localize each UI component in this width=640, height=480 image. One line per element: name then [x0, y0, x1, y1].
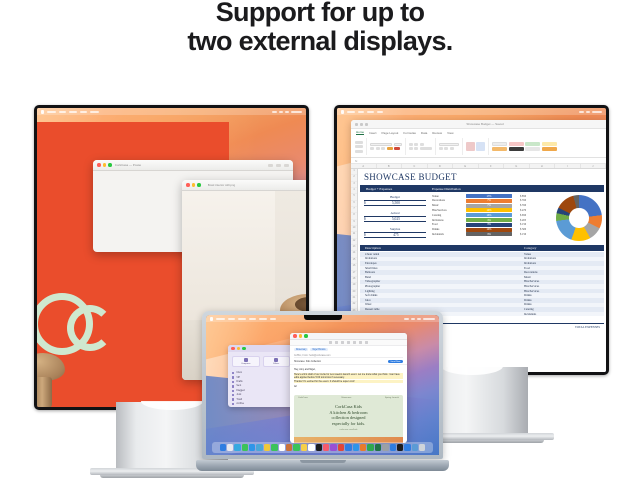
fill-color-icon[interactable]	[387, 147, 393, 150]
trash-icon[interactable]	[419, 444, 425, 450]
music-icon[interactable]	[323, 444, 329, 450]
mailbox-list[interactable]: InboxVIPDraftsSentFlaggedJunkTrashArchiv…	[228, 369, 294, 407]
apple-logo-icon[interactable]	[210, 317, 213, 321]
calendar-icon[interactable]	[279, 444, 285, 450]
cell-category: Hire/Services	[524, 285, 604, 288]
traffic-lights[interactable]	[231, 347, 246, 351]
appstore-icon[interactable]	[345, 444, 351, 450]
macbook-air: Compose Filters InboxVIPDraftsSentFlagge…	[196, 311, 449, 471]
indent-decrease-icon[interactable]	[409, 147, 413, 150]
apple-logo-icon[interactable]	[341, 110, 344, 114]
mailbox-icon	[232, 372, 234, 374]
expense-distribution-list: Venue17%$ 850Decorations7%$ 350Music7%$ …	[432, 194, 552, 237]
xcode-icon[interactable]	[404, 444, 410, 450]
mailbox-icon	[232, 385, 234, 387]
align-center-icon[interactable]	[414, 143, 418, 146]
menu-item[interactable]	[377, 111, 383, 113]
distribution-percent: 7%	[466, 204, 512, 208]
settings-icon[interactable]	[382, 444, 388, 450]
budget-summary-item: Surplus$475	[364, 227, 426, 238]
toolbar-button[interactable]	[268, 164, 273, 167]
card-title: CorkCasa Kids A kitchen & bedroom collec…	[294, 404, 403, 426]
expense-table-header: Description Category	[360, 245, 604, 251]
mailbox-label: Sent	[236, 385, 241, 387]
align-left-icon[interactable]	[409, 143, 413, 146]
mailbox-icon	[232, 381, 234, 383]
font-size-select[interactable]	[394, 143, 402, 146]
mailbox-label: Archive	[236, 403, 244, 405]
news-icon[interactable]	[338, 444, 344, 450]
budget-title: SHOWCASE BUDGET	[364, 172, 457, 182]
zoom-icon[interactable]	[304, 334, 308, 338]
mail-sidebar-window[interactable]: Compose Filters InboxVIPDraftsSentFlagge…	[228, 345, 294, 407]
photo-icon[interactable]	[347, 341, 350, 343]
merge-cells-button[interactable]	[420, 147, 432, 150]
messages-icon[interactable]	[242, 444, 248, 450]
cell-category: Venue	[524, 253, 604, 256]
cell-description: Soft drinks	[365, 294, 524, 297]
menu-item[interactable]	[249, 318, 256, 320]
menu-item[interactable]	[228, 318, 235, 320]
column-header[interactable]: H	[530, 164, 556, 168]
window-title-bar[interactable]: Bowl interior still.png	[182, 180, 306, 191]
format-as-table-icon[interactable]	[476, 142, 485, 151]
podcasts-icon[interactable]	[330, 444, 336, 450]
distribution-row: Incidentals3%$ 150	[432, 232, 552, 236]
compose-label: Compose	[241, 363, 250, 365]
distribution-bar: 17%	[466, 194, 512, 198]
section-band: Budget + Expenses Expense Distribution	[360, 185, 604, 192]
distribution-row: Drinks10%$ 500	[432, 227, 552, 231]
reminders-icon[interactable]	[293, 444, 299, 450]
distribution-row: Food3%$ 150	[432, 223, 552, 227]
menu-item[interactable]	[367, 111, 374, 113]
wifi-icon[interactable]	[272, 111, 277, 113]
notes-icon[interactable]	[301, 444, 307, 450]
budget-summary-item: Budget$5,500	[364, 195, 426, 206]
laptop-lid: Compose Filters InboxVIPDraftsSentFlagge…	[202, 311, 443, 459]
dock[interactable]	[212, 442, 433, 453]
bold-icon[interactable]	[370, 147, 374, 150]
distribution-bar: 7%	[466, 204, 512, 208]
cell-category: Music	[524, 276, 604, 279]
freeform-icon[interactable]	[308, 444, 314, 450]
cell-description: Lighting	[365, 290, 524, 293]
close-icon[interactable]	[231, 347, 235, 351]
mailbox-label: Flagged	[236, 390, 244, 392]
distribution-bar: 4%	[466, 218, 512, 222]
formula-fx-label: fx	[355, 159, 357, 163]
menu-item[interactable]	[69, 111, 77, 113]
launchpad-icon[interactable]	[227, 444, 233, 450]
tab-data[interactable]: Data	[421, 131, 427, 135]
distribution-row: Hire/Services10%$ 470	[432, 208, 552, 212]
subject-field[interactable]: Showcase: Kids Collection	[294, 361, 321, 363]
laptop-trackpad-notch	[300, 460, 346, 463]
column-description: Description	[365, 246, 524, 250]
italic-icon[interactable]	[376, 147, 380, 150]
underline-icon[interactable]	[381, 147, 385, 150]
finder-icon[interactable]	[220, 444, 226, 450]
mailbox-icon	[232, 390, 234, 392]
compose-button[interactable]: Compose	[232, 356, 260, 367]
mailbox-label: VIP	[236, 377, 240, 379]
summary-amount: 5,500	[392, 201, 400, 205]
menu-item[interactable]	[59, 111, 66, 113]
ribbon-tabs[interactable]: Home Insert Page Layout Formulas Data Re…	[351, 129, 606, 136]
mailbox-label: Trash	[236, 399, 242, 401]
cell-style-warning[interactable]	[542, 147, 557, 151]
ribbon-group-alignment[interactable]	[409, 138, 436, 155]
cell-description: Envelopes	[365, 262, 524, 265]
column-header[interactable]: J	[581, 164, 607, 168]
format-painter-icon[interactable]	[355, 150, 363, 153]
cell-category: Drinks	[524, 303, 604, 306]
battery-icon	[586, 111, 590, 113]
cell-category: Food	[524, 267, 604, 270]
distribution-category: Venue	[432, 195, 466, 198]
currency-symbol: $	[364, 233, 366, 237]
page-title: Support for up to two external displays.	[0, 0, 640, 56]
cell-style-note[interactable]	[525, 147, 540, 151]
distribution-percent: 3%	[466, 223, 512, 227]
menu-item[interactable]	[270, 318, 276, 320]
cell-category: Hire/Services	[524, 280, 604, 283]
undo-icon[interactable]	[360, 123, 363, 126]
distribution-category: Drinks	[432, 228, 466, 231]
control-center-icon[interactable]	[279, 111, 283, 113]
body-signature: Ari	[294, 385, 403, 388]
distribution-amount: $ 150	[520, 223, 526, 226]
close-icon[interactable]	[186, 183, 190, 187]
wifi-icon[interactable]	[404, 318, 409, 320]
distribution-percent: 13%	[466, 213, 512, 217]
cell-category: Drinks	[524, 299, 604, 302]
emoji-icon[interactable]	[341, 341, 344, 343]
tab-home[interactable]: Home	[356, 130, 364, 135]
apple-logo-icon[interactable]	[41, 110, 44, 114]
percent-format-icon[interactable]	[444, 147, 448, 150]
send-now-button[interactable]: Send Now	[388, 360, 403, 363]
cell-description: Invitations	[365, 257, 524, 260]
traffic-lights[interactable]	[186, 183, 201, 187]
window-title-bar[interactable]	[228, 345, 294, 352]
paste-icon[interactable]	[355, 141, 363, 144]
budget-summary-item: Actual$5,025	[364, 211, 426, 222]
menu-bar-left[interactable]	[37, 108, 306, 115]
summary-amount: 5,025	[392, 217, 400, 221]
filter-icon	[274, 358, 278, 362]
toolbar-button[interactable]	[276, 164, 281, 167]
cell-category: Incidentals	[524, 313, 604, 316]
distribution-bar: 7%	[466, 199, 512, 203]
card-link: corkcasa.com/kids	[294, 429, 403, 431]
mail-compose-window[interactable]: Rosemary Nigel Brooks Cc/Bcc, From: hell…	[290, 333, 407, 443]
mailbox-label: Junk	[236, 394, 241, 396]
cell-style-good[interactable]	[525, 142, 540, 146]
zoom-icon[interactable]	[197, 183, 201, 187]
document-name: Showcase Budget — Saved	[466, 122, 503, 126]
distribution-bar: 3%	[466, 223, 512, 227]
distribution-percent: 17%	[466, 194, 512, 198]
compose-icon	[244, 358, 248, 362]
distribution-row: Decorations7%$ 350	[432, 199, 552, 203]
minimize-icon[interactable]	[237, 347, 241, 351]
photos-icon[interactable]	[264, 444, 270, 450]
excel-icon[interactable]	[375, 444, 381, 450]
display-notch	[304, 315, 342, 320]
distribution-amount: $ 850	[520, 195, 526, 198]
headline-line-2: two external displays.	[0, 27, 640, 56]
distribution-percent: 10%	[466, 228, 512, 232]
cc-from-field[interactable]: Cc/Bcc, From: hello@corkcasa.com	[294, 354, 403, 358]
summary-value: $5,025	[364, 217, 426, 223]
tab-insert[interactable]: Insert	[369, 131, 377, 135]
cell-category: Decorations	[524, 271, 604, 274]
distribution-bar: 10%	[466, 208, 512, 212]
filters-button[interactable]: Filters	[263, 356, 291, 367]
summary-amount: 475	[393, 233, 398, 237]
clock	[592, 111, 602, 113]
cell-category: Hire/Services	[524, 290, 604, 293]
distribution-category: Food	[432, 223, 466, 226]
column-header[interactable]: B	[377, 164, 403, 168]
window-title-bar[interactable]: CorkCasa — Poster	[93, 160, 293, 171]
ribbon-group-clipboard[interactable]	[355, 138, 367, 155]
currency-symbol: $	[364, 201, 366, 205]
attach-icon[interactable]	[329, 341, 332, 343]
distribution-bar: 10%	[466, 228, 512, 232]
filters-label: Filters	[273, 363, 279, 365]
ribbon-group-conditional[interactable]	[466, 138, 490, 155]
redo-icon[interactable]	[365, 123, 368, 126]
cell-category: Invitations	[524, 257, 604, 260]
expense-donut-chart	[556, 195, 602, 241]
preview-icon[interactable]	[390, 444, 396, 450]
quick-access-toolbar[interactable]	[355, 123, 368, 126]
mailbox-label: Drafts	[236, 381, 242, 383]
menu-bar-right[interactable]	[337, 108, 606, 115]
cell-description: Videographer	[365, 280, 524, 283]
markup-icon[interactable]	[353, 341, 356, 343]
battery-icon	[285, 111, 289, 113]
section-budget-expenses: Budget + Expenses	[366, 187, 430, 191]
distribution-percent: 3%	[466, 232, 512, 236]
distribution-amount: $ 350	[520, 204, 526, 207]
ribbon-group-styles[interactable]	[492, 138, 560, 155]
distribution-row: Catering13%$ 650	[432, 213, 552, 217]
distribution-bar: 13%	[466, 213, 512, 217]
mailbox-icon	[232, 398, 234, 400]
format-icon[interactable]	[335, 341, 338, 343]
budget-summary: Budget$5,500Actual$5,025Surplus$475	[364, 195, 426, 243]
menu-item[interactable]	[216, 318, 225, 320]
cell-description: Photographer	[365, 285, 524, 288]
summary-value: $475	[364, 233, 426, 239]
laptop-screen: Compose Filters InboxVIPDraftsSentFlagge…	[206, 315, 439, 455]
cell-description: Band	[365, 276, 524, 279]
distribution-amount: $ 500	[520, 228, 526, 231]
poster-letter-glyph	[67, 305, 113, 351]
menu-item[interactable]	[47, 111, 56, 113]
column-header[interactable]: G	[504, 164, 530, 168]
menu-item[interactable]	[238, 318, 246, 320]
menu-item[interactable]	[80, 111, 87, 113]
body-paragraph-2: Thanks! I'm excited for the event. It sh…	[294, 380, 403, 383]
cell-style-normal[interactable]	[492, 142, 507, 146]
conditional-formatting-icon[interactable]	[466, 142, 475, 151]
distribution-category: Incidentals	[432, 233, 466, 236]
ribbon[interactable]	[351, 136, 606, 158]
currency-format-icon[interactable]	[439, 147, 443, 150]
font-color-icon[interactable]	[394, 147, 400, 150]
menu-item[interactable]	[259, 318, 267, 320]
mailbox-item[interactable]: Archive	[232, 402, 290, 406]
minimize-icon[interactable]	[103, 163, 107, 167]
menu-item[interactable]	[358, 111, 364, 113]
cell-style-neutral[interactable]	[542, 142, 557, 146]
terminal-icon[interactable]	[397, 444, 403, 450]
cell-description: Small bites	[365, 267, 524, 270]
comma-format-icon[interactable]	[450, 147, 454, 150]
cell-description: Water	[365, 303, 524, 306]
window-title: Bowl interior still.png	[208, 183, 236, 187]
zoom-icon[interactable]	[242, 347, 246, 351]
column-header[interactable]: C	[402, 164, 428, 168]
distribution-bar: 3%	[466, 232, 512, 236]
distribution-amount: $ 205	[520, 219, 526, 222]
tab-page-layout[interactable]: Page Layout	[382, 131, 399, 135]
cell-description: Juice	[365, 299, 524, 302]
tab-formulas[interactable]: Formulas	[403, 131, 416, 135]
card-title-line: especially for kids.	[294, 421, 403, 427]
window-title: CorkCasa — Poster	[115, 163, 142, 167]
cell-style-calculation[interactable]	[492, 147, 507, 151]
column-header[interactable]: D	[428, 164, 454, 168]
clock	[423, 318, 435, 320]
mailbox-label: Inbox	[236, 372, 242, 374]
save-icon[interactable]	[355, 123, 358, 126]
column-category: Category	[524, 246, 604, 250]
font-name-select[interactable]	[370, 143, 392, 146]
minimize-icon[interactable]	[192, 183, 196, 187]
distribution-amount: $ 150	[520, 233, 526, 236]
keynote-icon[interactable]	[353, 444, 359, 450]
toolbar-button[interactable]	[284, 164, 289, 167]
body-greeting: Hey, Amy and Nigel,	[294, 368, 403, 371]
copy-icon[interactable]	[355, 145, 363, 148]
card-header-left: CorkCasa	[298, 397, 308, 399]
menu-item[interactable]	[90, 111, 99, 113]
numbers-icon[interactable]	[367, 444, 373, 450]
recipient-chips[interactable]: Rosemary Nigel Brooks	[290, 346, 407, 353]
distribution-percent: 10%	[466, 208, 512, 212]
downloads-icon[interactable]	[412, 444, 418, 450]
ribbon-group-number[interactable]	[439, 138, 463, 155]
mailbox-icon	[232, 376, 234, 378]
cell-category: Invitations	[524, 262, 604, 265]
cell-category: Catering	[524, 308, 604, 311]
recipient-chip[interactable]: Rosemary	[294, 348, 308, 351]
currency-symbol: $	[364, 217, 366, 221]
column-header[interactable]: E	[453, 164, 479, 168]
number-format-select[interactable]	[439, 143, 459, 146]
distribution-percent: 4%	[466, 218, 512, 222]
wifi-icon[interactable]	[579, 111, 584, 113]
tab-review[interactable]: Review	[432, 131, 442, 135]
cell-style-input[interactable]	[509, 147, 524, 151]
recipient-chip[interactable]: Nigel Brooks	[310, 348, 327, 351]
distribution-amount: $ 350	[520, 199, 526, 202]
expense-table-rows: 4 hour rentalVenueInvitationsInvitations…	[360, 252, 604, 316]
zoom-icon[interactable]	[108, 163, 112, 167]
more-icon[interactable]	[365, 341, 368, 343]
contacts-icon[interactable]	[286, 444, 292, 450]
promo-canvas: Support for up to two external displays.	[0, 0, 640, 480]
mailbox-icon	[232, 394, 234, 396]
distribution-category: Invitations	[432, 219, 466, 222]
tv-icon[interactable]	[316, 444, 322, 450]
message-body[interactable]: Hey, Amy and Nigel, Here's a first draft…	[290, 365, 407, 388]
indent-increase-icon[interactable]	[414, 147, 418, 150]
column-header[interactable]: I	[555, 164, 581, 168]
control-center-icon[interactable]	[411, 318, 415, 320]
distribution-category: Hire/Services	[432, 209, 466, 212]
card-header-right: Spring Launch	[385, 397, 399, 399]
menu-item[interactable]	[347, 111, 355, 113]
pages-icon[interactable]	[360, 444, 366, 450]
excel-title-bar[interactable]: Showcase Budget — Saved	[351, 120, 606, 129]
minimize-icon[interactable]	[299, 334, 303, 338]
maps-icon[interactable]	[256, 444, 262, 450]
distribution-amount: $ 650	[520, 214, 526, 217]
distribution-row: Venue17%$ 850	[432, 194, 552, 198]
clock	[291, 111, 302, 113]
tab-view[interactable]: View	[447, 131, 453, 135]
ribbon-group-font[interactable]	[370, 138, 406, 155]
distribution-category: Music	[432, 204, 466, 207]
summary-value: $5,500	[364, 201, 426, 207]
cell-category: Drinks	[524, 294, 604, 297]
mail-icon[interactable]	[249, 444, 255, 450]
distribution-percent: 7%	[466, 199, 512, 203]
distribution-row: Music7%$ 350	[432, 204, 552, 208]
safari-icon[interactable]	[234, 444, 240, 450]
facetime-icon[interactable]	[271, 444, 277, 450]
email-attachment-card: CorkCasa Showcase Spring Launch CorkCasa…	[294, 395, 403, 443]
align-right-icon[interactable]	[420, 143, 424, 146]
distribution-category: Decorations	[432, 199, 466, 202]
close-icon[interactable]	[293, 334, 297, 338]
cell-description: Balloons	[365, 271, 524, 274]
headline-line-1: Support for up to	[216, 0, 425, 27]
card-header-center: Showcase	[341, 397, 351, 399]
column-header[interactable]: F	[479, 164, 505, 168]
laptop-base	[196, 460, 449, 471]
cell-style-bad[interactable]	[509, 142, 524, 146]
column-header[interactable]: A	[351, 164, 377, 168]
close-icon[interactable]	[97, 163, 101, 167]
window-title-bar[interactable]	[290, 333, 407, 340]
link-icon[interactable]	[359, 341, 362, 343]
mailbox-icon	[232, 403, 234, 405]
traffic-lights[interactable]	[293, 334, 308, 338]
section-expense-distribution: Expense Distribution	[432, 187, 461, 191]
battery-icon	[417, 318, 421, 320]
distribution-amount: $ 470	[520, 209, 526, 212]
traffic-lights[interactable]	[97, 163, 112, 167]
distribution-category: Catering	[432, 214, 466, 217]
